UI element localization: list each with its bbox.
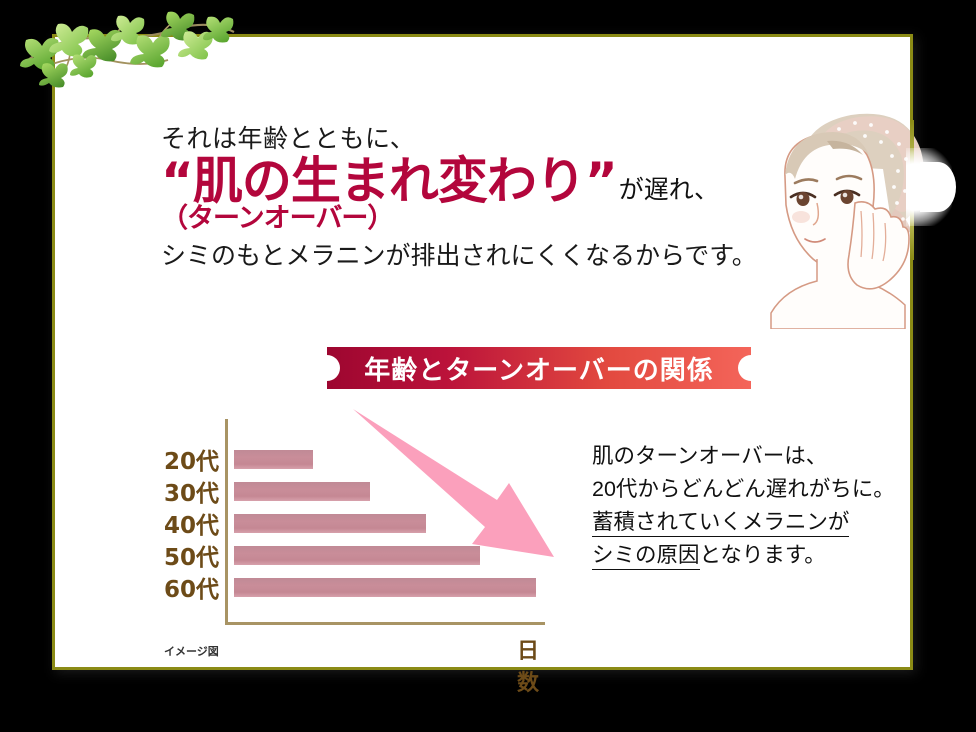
- explanation-line-tail: となります。: [700, 543, 826, 567]
- explanation-line: 20代からどんどん遅れがちに。: [592, 473, 942, 506]
- bar-value: [234, 450, 313, 469]
- bar-label: 60代: [159, 570, 225, 604]
- page-edge-highlight: [906, 148, 952, 226]
- chart-bar-row: 60代: [159, 571, 536, 603]
- ribbon-notch-right: [738, 355, 764, 381]
- explanation-text: 肌のターンオーバーは、 20代からどんどん遅れがちに。 蓄積されていくメラニンが…: [592, 440, 942, 572]
- bar-label: 20代: [159, 442, 225, 476]
- chart-x-axis: [225, 622, 545, 625]
- bar-value: [234, 578, 536, 597]
- bar-label: 50代: [159, 538, 225, 572]
- page-root: それは年齢とともに、 “肌の生まれ変わり”が遅れ、 （ターンオーバー） シミのも…: [0, 0, 976, 732]
- headline-emphasis: “肌の生まれ変わり”: [161, 152, 617, 210]
- content-card: それは年齢とともに、 “肌の生まれ変わり”が遅れ、 （ターンオーバー） シミのも…: [52, 34, 913, 670]
- bar-label: 30代: [159, 474, 225, 508]
- headline-line-1: それは年齢とともに、: [161, 125, 801, 154]
- explanation-line-text-underlined: 蓄積されていくメラニンが: [592, 510, 849, 537]
- bar-label: 40代: [159, 506, 225, 540]
- chart-bar-row: 20代: [159, 443, 313, 475]
- explanation-line-text: 20代からどんどん遅れがちに。: [592, 477, 895, 501]
- section-banner: 年齢とターンオーバーの関係: [327, 347, 751, 389]
- headline-block: それは年齢とともに、 “肌の生まれ変わり”が遅れ、 （ターンオーバー） シミのも…: [161, 125, 801, 271]
- ivy-vine-decoration: [12, 2, 244, 98]
- headline-emphasis-suffix: が遅れ、: [619, 176, 719, 204]
- explanation-line-text-underlined: シミの原因: [592, 543, 700, 570]
- section-banner-title: 年齢とターンオーバーの関係: [364, 350, 713, 387]
- explanation-line: 蓄積されていくメラニンが: [592, 506, 942, 539]
- explanation-line-text: 肌のターンオーバーは、: [592, 444, 827, 468]
- ribbon-notch-left: [314, 355, 340, 381]
- chart-x-axis-label: 日数: [517, 633, 559, 697]
- explanation-line: シミの原因となります。: [592, 539, 942, 572]
- headline-emphasis-row: “肌の生まれ変わり”が遅れ、: [161, 156, 801, 206]
- turnover-bar-chart: 20代 30代 40代 50代 60代 イメージ図: [159, 415, 559, 665]
- headline-line-4: シミのもとメラニンが排出されにくくなるからです。: [161, 241, 801, 271]
- chart-note: イメージ図: [164, 643, 219, 659]
- explanation-line: 肌のターンオーバーは、: [592, 440, 942, 473]
- chart-bar-row: 30代: [159, 475, 370, 507]
- downward-trend-arrow-icon: [349, 405, 579, 565]
